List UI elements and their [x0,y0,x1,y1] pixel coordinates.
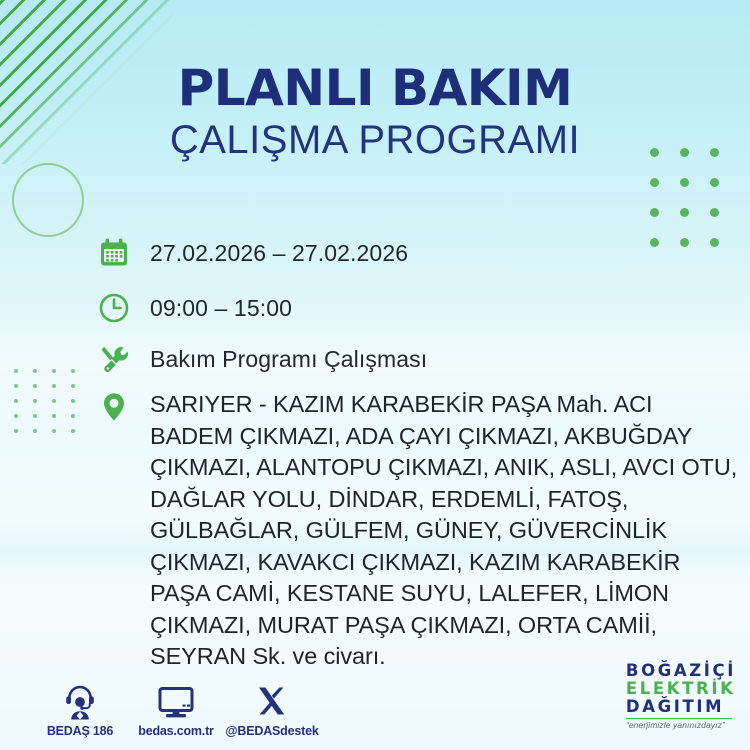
contact-website[interactable]: bedas.com.tr [128,680,224,738]
calendar-icon [98,236,150,269]
brand-logo-tagline: “enerjimizle yanınızdayız” [626,720,736,730]
brand-logo-line2: ELEKTRİK [626,680,736,698]
headset-support-icon [32,680,128,720]
info-row-work-type: Bakım Programı Çalışması [98,342,738,375]
poster-header: PLANLI BAKIM ÇALIŞMA PROGRAMI [0,62,750,163]
contact-phone[interactable]: BEDAŞ 186 [32,680,128,738]
page-title: PLANLI BAKIM [0,62,750,114]
info-list: 27.02.2026 – 27.02.2026 09:00 – 15:00 [98,236,738,691]
poster-canvas: PLANLI BAKIM ÇALIŞMA PROGRAMI [0,0,750,750]
brand-logo-rule [626,718,732,720]
clock-icon [98,291,150,324]
brand-logo: BOĞAZİÇİ ELEKTRİK DAĞITIM “enerjimizle y… [626,662,736,731]
time-range-text: 09:00 – 15:00 [150,291,292,320]
contact-phone-label: BEDAŞ 186 [32,724,128,738]
circle-outline-decoration [12,163,84,237]
page-subtitle: ÇALIŞMA PROGRAMI [0,118,750,163]
date-range-text: 27.02.2026 – 27.02.2026 [150,236,408,265]
location-pin-icon [98,387,150,423]
work-type-text: Bakım Programı Çalışması [150,342,427,371]
brand-logo-line3: DAĞITIM [626,698,736,716]
footer-contacts: BEDAŞ 186 bedas.com.tr [32,680,320,738]
contact-x-twitter[interactable]: @BEDASdestek [224,680,320,738]
address-text: SARIYER - KAZIM KARABEKİR PAŞA Mah. ACI … [150,387,738,673]
brand-logo-line1: BOĞAZİÇİ [626,662,736,680]
info-row-date: 27.02.2026 – 27.02.2026 [98,236,738,269]
contact-x-label: @BEDASdestek [224,724,320,738]
x-twitter-icon [224,680,320,720]
monitor-icon [128,680,224,720]
info-row-address: SARIYER - KAZIM KARABEKİR PAŞA Mah. ACI … [98,387,738,673]
info-row-time: 09:00 – 15:00 [98,291,738,324]
dot-grid-left-decoration [14,369,90,444]
wrench-screwdriver-icon [98,342,150,375]
contact-website-label: bedas.com.tr [128,724,224,738]
